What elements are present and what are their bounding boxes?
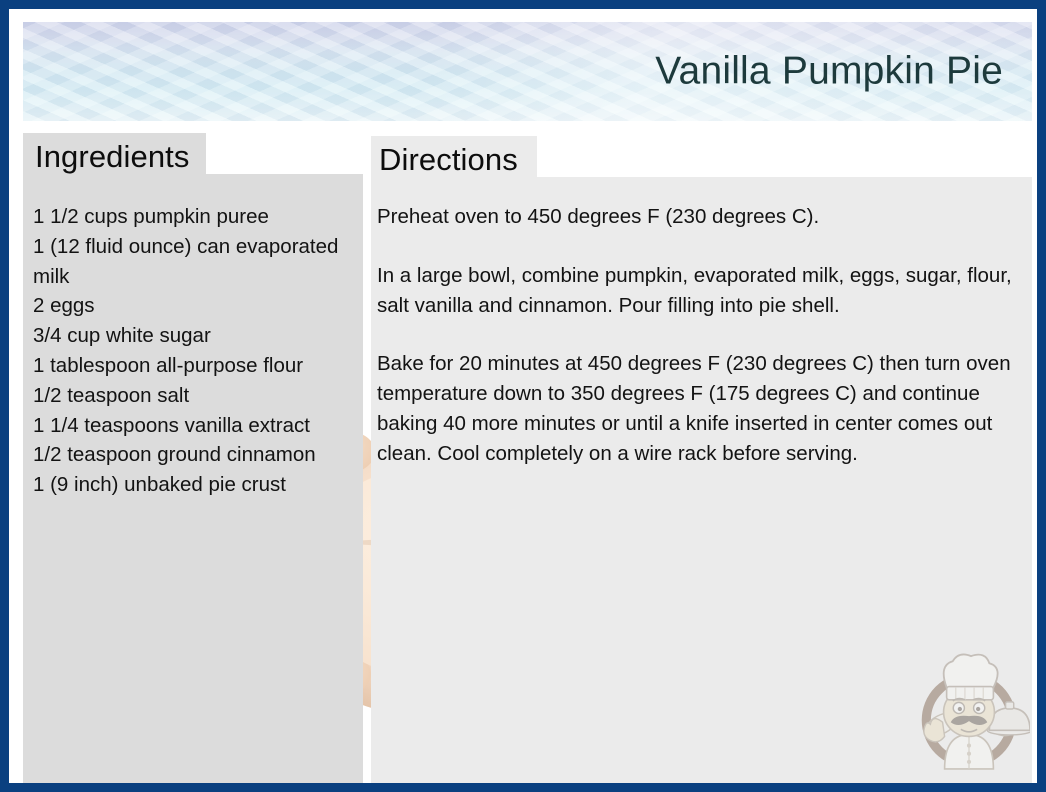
list-item: 1 (12 fluid ounce) can evaporated milk	[33, 232, 355, 292]
page-title: Vanilla Pumpkin Pie	[655, 51, 1003, 92]
direction-step: In a large bowl, combine pumpkin, evapor…	[377, 261, 1012, 321]
list-item: 1 1/4 teaspoons vanilla extract	[33, 411, 355, 441]
list-item: 1 (9 inch) unbaked pie crust	[33, 470, 355, 500]
list-item: 1 1/2 cups pumpkin puree	[33, 202, 355, 232]
list-item: 3/4 cup white sugar	[33, 321, 355, 351]
header-banner: Vanilla Pumpkin Pie	[23, 22, 1032, 121]
directions-heading: Directions	[379, 142, 518, 178]
ingredients-list: 1 1/2 cups pumpkin puree 1 (12 fluid oun…	[33, 202, 355, 500]
chef-mascot-logo	[908, 649, 1030, 771]
directions-list: Preheat oven to 450 degrees F (230 degre…	[377, 202, 1012, 469]
direction-step: Bake for 20 minutes at 450 degrees F (23…	[377, 349, 1012, 468]
list-item: 1 tablespoon all-purpose flour	[33, 351, 355, 381]
list-item: 1/2 teaspoon salt	[33, 381, 355, 411]
list-item: 2 eggs	[33, 291, 355, 321]
list-item: 1/2 teaspoon ground cinnamon	[33, 440, 355, 470]
slide-inner: Vanilla Pumpkin Pie	[9, 9, 1037, 783]
ingredients-heading: Ingredients	[35, 139, 189, 175]
recipe-slide: Vanilla Pumpkin Pie	[0, 0, 1046, 792]
direction-step: Preheat oven to 450 degrees F (230 degre…	[377, 202, 1012, 232]
